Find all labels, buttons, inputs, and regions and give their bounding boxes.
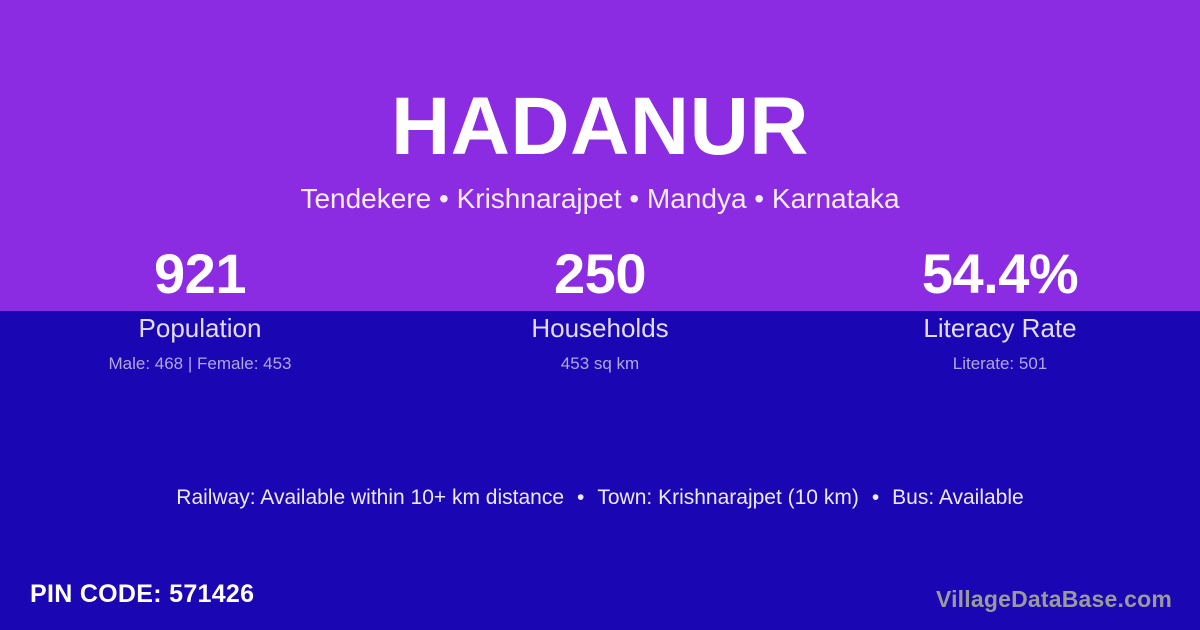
stat-population-label: Population [0,313,400,343]
infrastructure-bus: Bus: Available [892,486,1024,509]
site-brand: VillageDataBase.com [936,585,1172,613]
card-footer: PIN CODE: 571426 VillageDataBase.com [0,575,1200,630]
stat-population: 921 Population Male: 468 | Female: 453 [0,243,400,374]
page-title: HADANUR [0,0,1200,170]
pin-code: PIN CODE: 571426 [30,579,254,609]
stat-literacy-rate-label: Literacy Rate [800,313,1200,343]
infrastructure-separator: • [859,485,892,511]
stat-literacy-rate: 54.4% Literacy Rate Literate: 501 [800,243,1200,374]
stat-households-detail: 453 sq km [400,353,800,374]
infrastructure-town: Town: Krishnarajpet (10 km) [597,486,858,509]
infrastructure-separator: • [564,485,597,511]
stat-households-value: 250 [400,243,800,305]
stat-households: 250 Households 453 sq km [400,243,800,374]
stat-literacy-rate-detail: Literate: 501 [800,353,1200,374]
village-info-card: HADANUR Tendekere • Krishnarajpet • Mand… [0,0,1200,630]
stat-literacy-rate-value: 54.4% [800,243,1200,305]
infrastructure-railway: Railway: Available within 10+ km distanc… [176,486,564,509]
stat-population-detail: Male: 468 | Female: 453 [0,353,400,374]
infrastructure-row: Railway: Available within 10+ km distanc… [0,485,1200,511]
card-header: HADANUR Tendekere • Krishnarajpet • Mand… [0,0,1200,216]
breadcrumb: Tendekere • Krishnarajpet • Mandya • Kar… [0,170,1200,216]
stat-households-label: Households [400,313,800,343]
stat-population-value: 921 [0,243,400,305]
stats-row: 921 Population Male: 468 | Female: 453 2… [0,243,1200,374]
